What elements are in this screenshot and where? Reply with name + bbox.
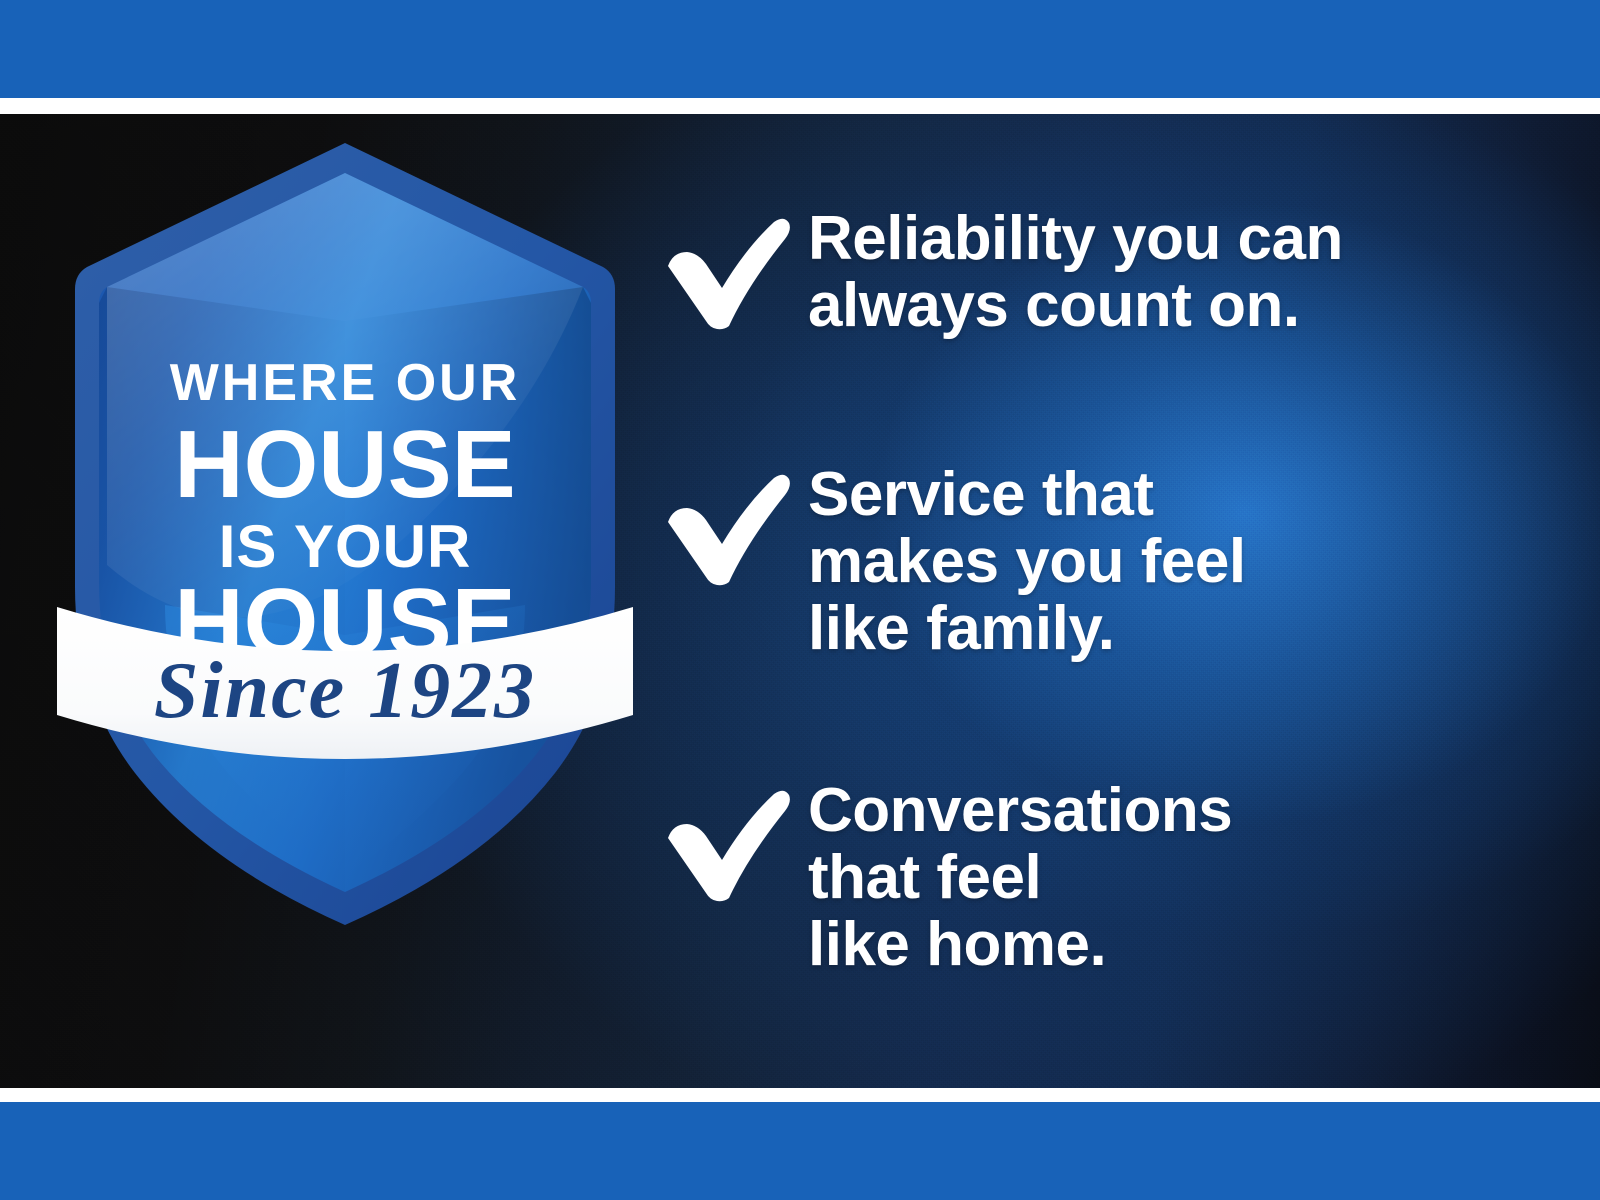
benefit-text-3: Conversations that feel like home. xyxy=(808,778,1232,979)
benefit-item-3: Conversations that feel like home. xyxy=(660,778,1232,979)
benefit-text-2: Service that makes you feel like family. xyxy=(808,462,1246,663)
shield-emblem: WHERE OUR HOUSE IS YOUR HOUSE Since 1923 xyxy=(55,135,635,935)
emblem-line-1: WHERE OUR xyxy=(170,354,521,412)
checkmark-icon xyxy=(660,784,792,902)
top-white-divider xyxy=(0,98,1600,114)
promo-graphic-canvas: WHERE OUR HOUSE IS YOUR HOUSE Since 1923… xyxy=(0,0,1600,1200)
checkmark-icon xyxy=(660,468,792,586)
benefit-item-2: Service that makes you feel like family. xyxy=(660,462,1246,663)
emblem-line-2: HOUSE xyxy=(174,411,515,518)
benefit-text-1: Reliability you can always count on. xyxy=(808,206,1343,340)
ribbon-text: Since 1923 xyxy=(154,647,536,735)
top-brand-bar xyxy=(0,0,1600,98)
benefit-item-1: Reliability you can always count on. xyxy=(660,206,1343,340)
bottom-brand-bar xyxy=(0,1102,1600,1200)
bottom-white-divider xyxy=(0,1088,1600,1102)
benefits-list: Reliability you can always count on. Ser… xyxy=(660,114,1560,1088)
checkmark-icon xyxy=(660,212,792,330)
